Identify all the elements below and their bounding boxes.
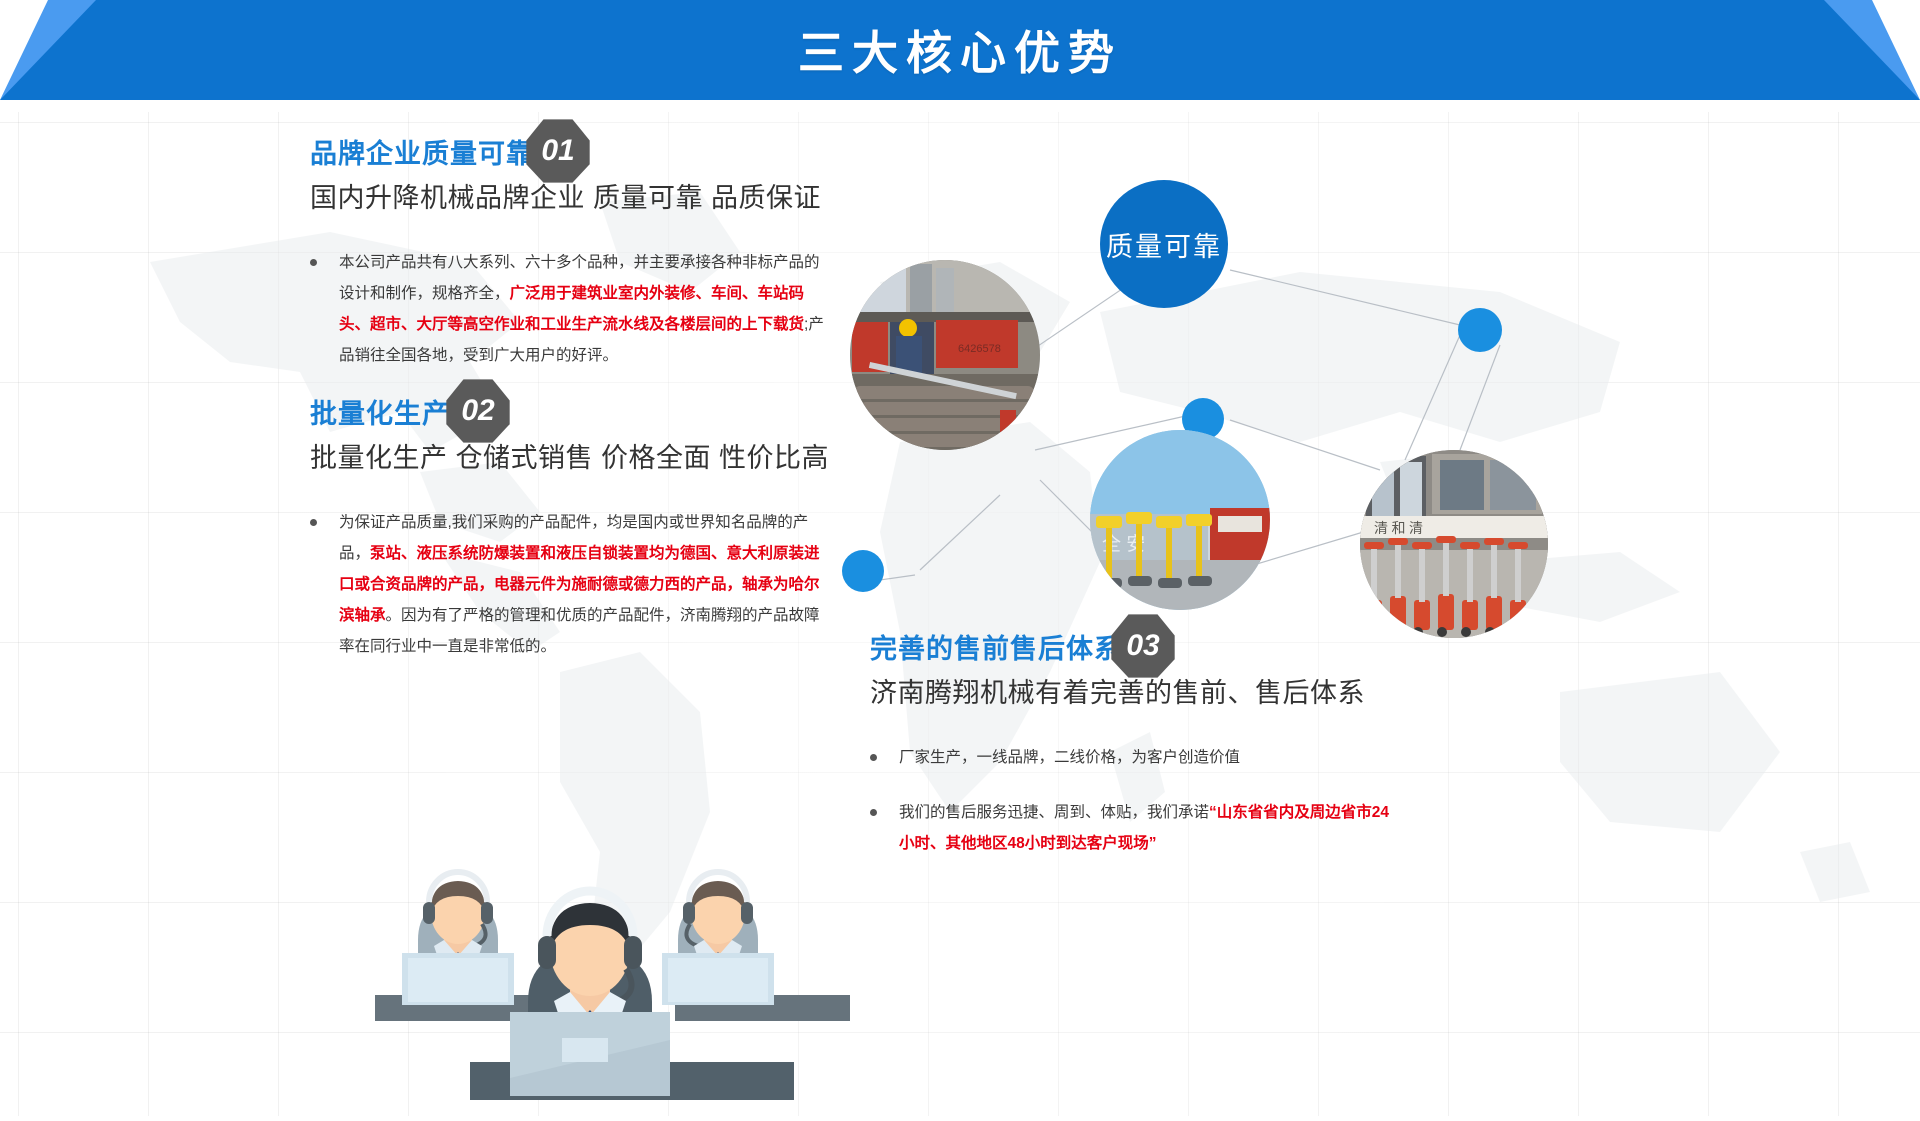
feature-bullet-text-03-1: 厂家生产，一线品牌，二线价格，为客户创造价值 [899,742,1240,773]
aerial-work-platforms-photo: 全 安 [1090,430,1270,610]
feature-bullet-text-03-2: 我们的售后服务迅捷、周到、体贴，我们承诺“山东省省内及周边省市24小时、其他地区… [899,797,1390,859]
bullet-dot-icon [870,754,877,761]
feature-bullets-01: 本公司产品共有八大系列、六十多个品种，并主要承接各种非标产品的设计和制作，规格齐… [310,247,830,371]
network-node-right [1458,308,1502,352]
agent-back-right [662,872,850,1021]
feature-block-03: 完善的售前售后体系 03 济南腾翔机械有着完善的售前、售后体系 厂家生产，一线品… [870,635,1390,883]
feature-bullets-02: 为保证产品质量,我们采购的产品配件，均是国内或世界知名品牌的产品，泵站、液压系统… [310,507,830,662]
feature-heading-02: 批量化生产 02 [310,400,830,430]
storefront-lifts-photo: 清 和 清 [1360,450,1548,638]
feature-title-02: 批量化生产 [310,400,450,430]
factory-production-photo: 6426578 [850,260,1040,450]
bullet-dot-icon [870,809,877,816]
network-hub-node: 质量可靠 [1100,180,1228,308]
svg-text:6426578: 6426578 [958,343,1001,355]
network-diagram: 质量可靠 6426578 [860,150,1560,590]
list-item: 本公司产品共有八大系列、六十多个品种，并主要承接各种非标产品的设计和制作，规格齐… [310,247,830,371]
list-item: 为保证产品质量,我们采购的产品配件，均是国内或世界知名品牌的产品，泵站、液压系统… [310,507,830,662]
feature-title-01: 品牌企业质量可靠 [310,140,534,170]
feature-bullet-text-01-1: 本公司产品共有八大系列、六十多个品种，并主要承接各种非标产品的设计和制作，规格齐… [339,247,830,371]
feature-bullet-text-02-1: 为保证产品质量,我们采购的产品配件，均是国内或世界知名品牌的产品，泵站、液压系统… [339,507,830,662]
bullet-dot-icon [310,259,317,266]
feature-subtitle-02: 批量化生产 仓储式销售 价格全面 性价比高 [310,436,830,475]
feature-bullets-03: 厂家生产，一线品牌，二线价格，为客户创造价值 我们的售后服务迅捷、周到、体贴，我… [870,742,1390,859]
feature-heading-01: 品牌企业质量可靠 01 [310,140,830,170]
list-item: 我们的售后服务迅捷、周到、体贴，我们承诺“山东省省内及周边省市24小时、其他地区… [870,797,1390,859]
feature-heading-03: 完善的售前售后体系 03 [870,635,1390,665]
list-item: 厂家生产，一线品牌，二线价格，为客户创造价值 [870,742,1390,773]
page-title: 三大核心优势 [0,0,1920,100]
svg-text:清 和 清: 清 和 清 [1374,521,1423,537]
page-header-banner: 三大核心优势 [0,0,1920,100]
bullet-dot-icon [310,519,317,526]
feature-block-01: 品牌企业质量可靠 01 国内升降机械品牌企业 质量可靠 品质保证 本公司产品共有… [310,140,830,395]
feature-title-03: 完善的售前售后体系 [870,635,1122,665]
call-center-agents-illustration [330,790,850,1116]
network-node-left [842,550,884,592]
feature-block-02: 批量化生产 02 批量化生产 仓储式销售 价格全面 性价比高 为保证产品质量,我… [310,400,830,686]
